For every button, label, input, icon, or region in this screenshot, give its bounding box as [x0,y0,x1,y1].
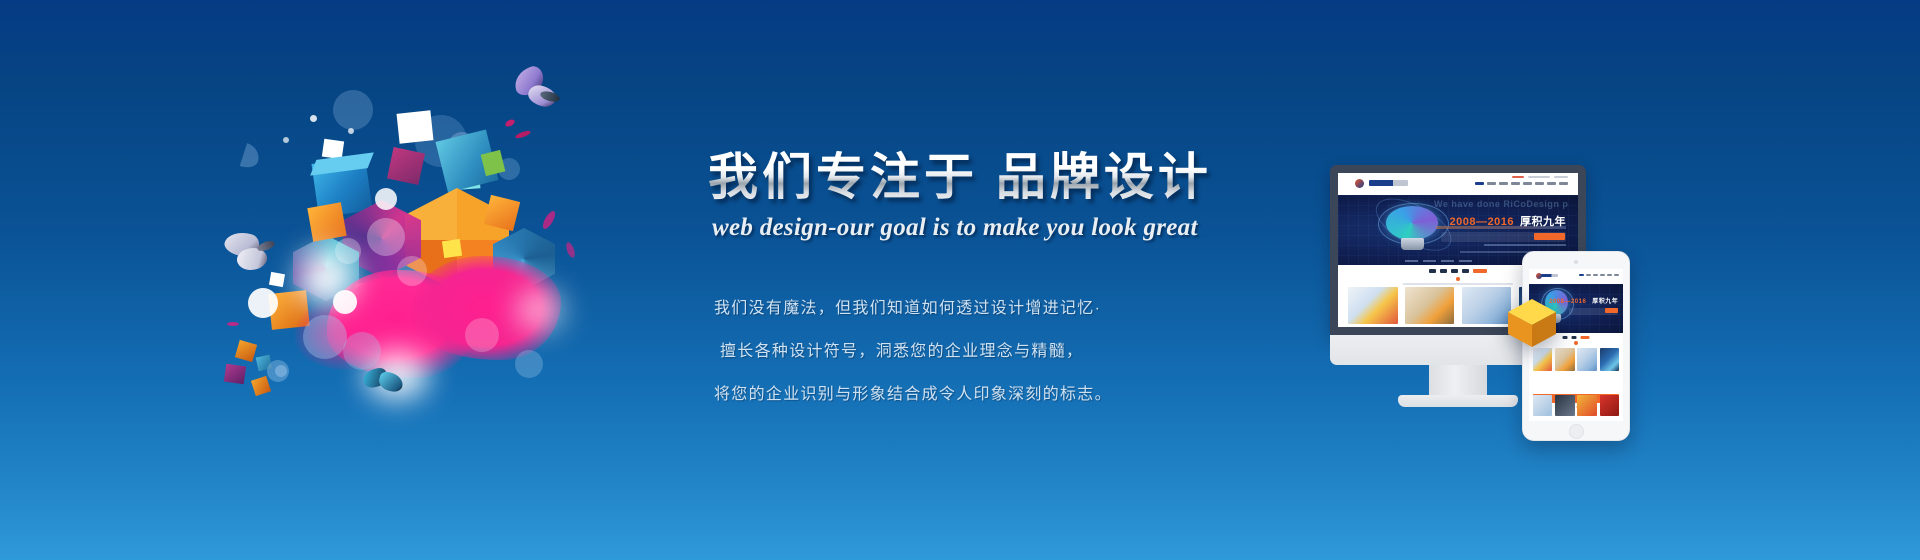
section-title [1429,269,1487,273]
bokeh-circle [375,188,397,210]
paint-droplet [515,129,532,139]
section-accent-dot [1456,277,1460,281]
page-subtitle: web design-our goal is to make you look … [712,214,1268,242]
bokeh-circle [333,290,357,314]
card-thumbnail[interactable] [1462,287,1512,324]
crescent-shape [240,143,263,171]
site-card-grid [1533,348,1620,371]
paint-droplet [227,322,239,326]
monitor-stand-foot [1398,395,1518,407]
bokeh-circle [303,315,347,359]
paint-droplet [541,209,558,230]
bokeh-circle [335,238,361,264]
thumbnail-item[interactable] [1600,395,1620,416]
lightbulb-graphic [1376,206,1448,253]
bokeh-circle [267,360,289,382]
hero-text-block: 我们专注于 品牌设计 web design-our goal is to mak… [708,150,1268,423]
hero-year-headline: 2008—2016厚积九年 [1549,296,1618,305]
bulb-glass [1386,206,1438,240]
hero-cta-button[interactable] [1605,308,1618,313]
monitor-stand-neck [1429,365,1487,399]
hero-banner: 我们专注于 品牌设计 web design-our goal is to mak… [0,0,1920,560]
bokeh-circle [248,288,278,318]
bokeh-circle [515,350,543,378]
section-divider [1403,283,1513,285]
thumbnail-item[interactable] [1555,395,1575,416]
bokeh-circle [367,218,405,256]
site-nav-items [1475,182,1568,185]
site-logo-text [1369,180,1407,186]
bokeh-circle [397,256,427,286]
page-title: 我们专注于 品牌设计 [708,150,1268,204]
hero-ghost-text: We have done RiCoDesign project [1434,199,1568,210]
bokeh-circle [465,318,499,352]
thumbnail-item[interactable] [1533,395,1553,416]
white-square [269,272,285,287]
card-thumbnail[interactable] [1533,348,1553,371]
card-thumbnail[interactable] [1348,287,1398,324]
device-mockups: We have done RiCoDesign project 2008—201… [1330,165,1750,475]
hero-subtitle-bar [1436,226,1566,229]
section-accent-dot [1574,341,1578,345]
camera-icon [1574,260,1578,264]
description-line-1: 我们没有魔法，但我们知道如何透过设计增进记忆· [714,294,1268,318]
cube-small [251,376,271,396]
hero-pagination[interactable] [1405,260,1472,262]
cube-small [224,364,246,385]
light-glow [515,288,565,332]
card-thumbnail[interactable] [1577,348,1597,371]
hero-description: 我们没有魔法，但我们知道如何透过设计增进记忆· 擅长各种设计符号，洞悉您的企业理… [714,294,1268,404]
bokeh-circle [348,128,354,134]
hero-cta-button[interactable] [1534,233,1565,240]
bokeh-circle [283,137,289,143]
card-thumbnail[interactable] [1555,348,1575,371]
site-logo-text [1541,274,1558,277]
home-button-icon[interactable] [1569,424,1584,439]
white-square [442,239,462,258]
cube-magenta [387,147,425,185]
hero-headline-cn: 厚积九年 [1592,299,1618,305]
site-logo-icon [1355,179,1364,188]
card-thumbnail[interactable] [1405,287,1455,324]
paint-droplet [564,241,576,258]
site-thumbnail-row [1533,395,1620,416]
description-line-3: 将您的企业识别与形象结合成令人印象深刻的标志。 [714,380,1268,404]
card-thumbnail[interactable] [1600,348,1620,371]
site-navbar [1338,173,1578,196]
cube-orange-small [307,202,346,241]
gold-cube-decoration [1506,297,1558,349]
site-nav-items [1579,274,1619,276]
paint-droplet [504,118,516,128]
thumbnail-item[interactable] [1577,395,1597,416]
section-title [1563,336,1590,339]
abstract-artwork [215,60,675,460]
hero-meta-line [1484,244,1566,246]
bokeh-circle [333,90,373,130]
description-line-2: 擅长各种设计符号，洞悉您的企业理念与精髓， [720,337,1268,361]
cube-small [235,340,257,362]
white-square [397,110,434,143]
bokeh-circle [310,115,317,122]
cube-green-accent [481,150,506,176]
site-navbar [1529,269,1623,285]
butterfly-icon [363,365,407,395]
butterfly-icon [223,230,281,274]
butterfly-icon [510,68,566,112]
bulb-base [1401,238,1424,250]
site-topbar-links [1512,176,1568,178]
